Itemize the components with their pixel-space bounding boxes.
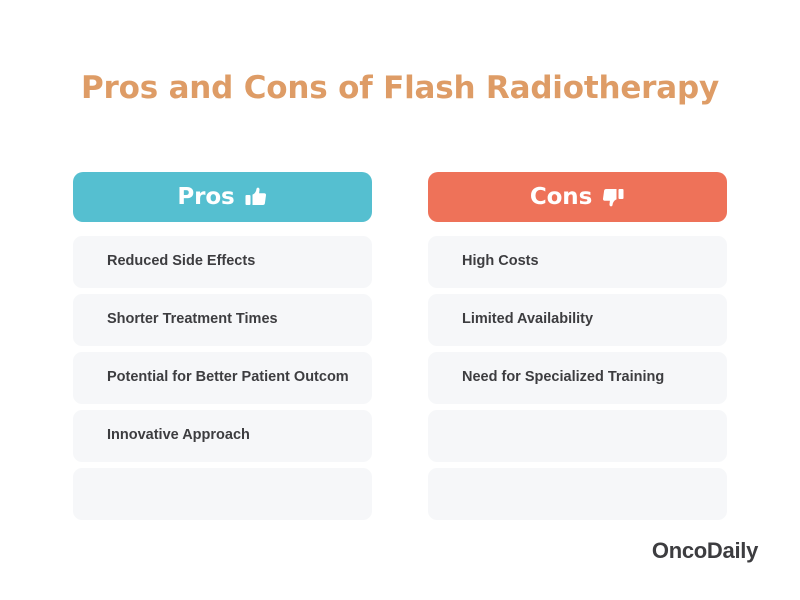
list-item-empty[interactable] (428, 468, 727, 520)
list-item[interactable]: Need for Specialized Training (428, 352, 727, 404)
list-item-label: Limited Availability (462, 310, 593, 329)
list-item[interactable]: Limited Availability (428, 294, 727, 346)
card-list-cons: High Costs Limited Availability Need for… (428, 236, 727, 520)
thumbs-down-icon (601, 185, 625, 209)
infographic-canvas: Pros and Cons of Flash Radiotherapy Pros… (0, 0, 800, 600)
list-item[interactable]: Shorter Treatment Times (73, 294, 372, 346)
list-item-empty[interactable] (73, 468, 372, 520)
column-header-label-cons: Cons (530, 186, 592, 209)
column-header-label-pros: Pros (177, 186, 234, 209)
list-item[interactable]: Innovative Approach (73, 410, 372, 462)
list-item-label: Innovative Approach (107, 426, 250, 445)
column-header-cons: Cons (428, 172, 727, 222)
column-pros: Pros Reduced Side Effects Shorter Treatm… (73, 172, 372, 520)
column-header-pros: Pros (73, 172, 372, 222)
pros-cons-columns: Pros Reduced Side Effects Shorter Treatm… (73, 172, 727, 520)
list-item-label: Potential for Better Patient Outcom (107, 368, 349, 387)
list-item[interactable]: Reduced Side Effects (73, 236, 372, 288)
page-title: Pros and Cons of Flash Radiotherapy (0, 70, 800, 106)
list-item-label: Shorter Treatment Times (107, 310, 278, 329)
list-item[interactable]: Potential for Better Patient Outcom (73, 352, 372, 404)
list-item-empty[interactable] (428, 410, 727, 462)
list-item-label: High Costs (462, 252, 539, 271)
thumbs-up-icon (244, 185, 268, 209)
list-item-label: Reduced Side Effects (107, 252, 255, 271)
column-cons: Cons High Costs Limited Availability Nee… (428, 172, 727, 520)
card-list-pros: Reduced Side Effects Shorter Treatment T… (73, 236, 372, 520)
list-item-label: Need for Specialized Training (462, 368, 664, 387)
list-item[interactable]: High Costs (428, 236, 727, 288)
brand-wordmark: OncoDaily (652, 538, 758, 564)
